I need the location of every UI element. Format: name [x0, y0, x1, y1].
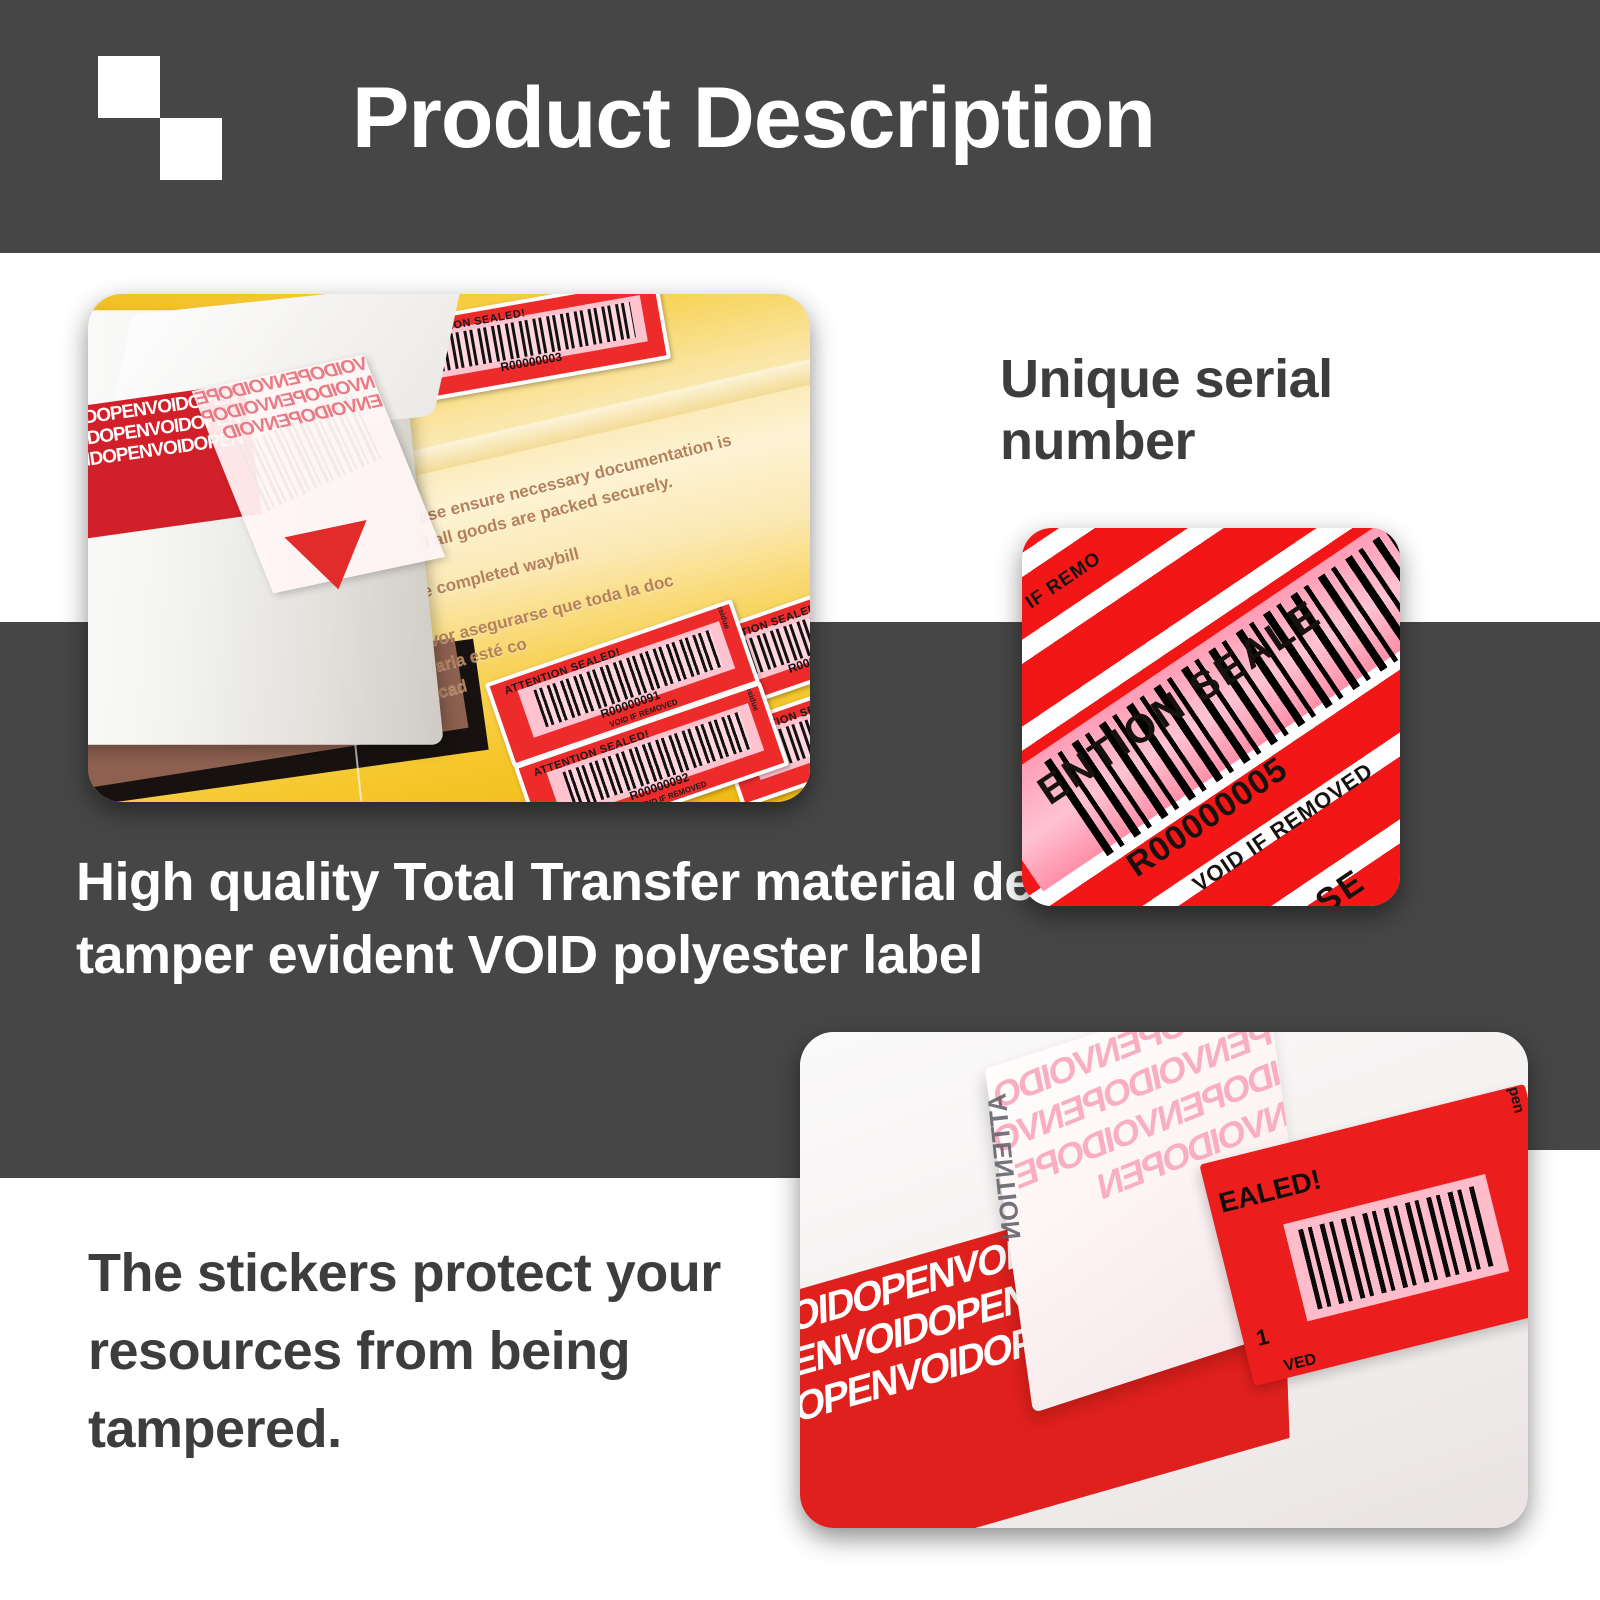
logo-square-bottom-right: [160, 118, 222, 180]
page-title: Product Description: [352, 62, 1155, 174]
product-description-infographic: Product Description Unique serial number…: [0, 0, 1600, 1600]
photo-serial-closeup: IF REMO ENTION SEALE R00000005 VOID IF R…: [1022, 528, 1400, 906]
heading-unique-serial-number: Unique serial number: [1000, 348, 1520, 472]
photo-box-and-envelope: Please ensure necessary documentation is…: [88, 294, 810, 802]
heading-stickers-protect: The stickers protect your resources from…: [88, 1234, 788, 1468]
serial-fragment-text: 1: [1254, 1324, 1272, 1352]
sealed-text: EALED!: [1216, 1164, 1325, 1220]
photo-peeled-label: VOIDOPENVOIDOPENVOIDOPENVOIDOPENVOIDOPEN…: [800, 1032, 1528, 1528]
brand-logo-icon: [98, 56, 222, 180]
logo-square-top-left: [98, 56, 160, 118]
